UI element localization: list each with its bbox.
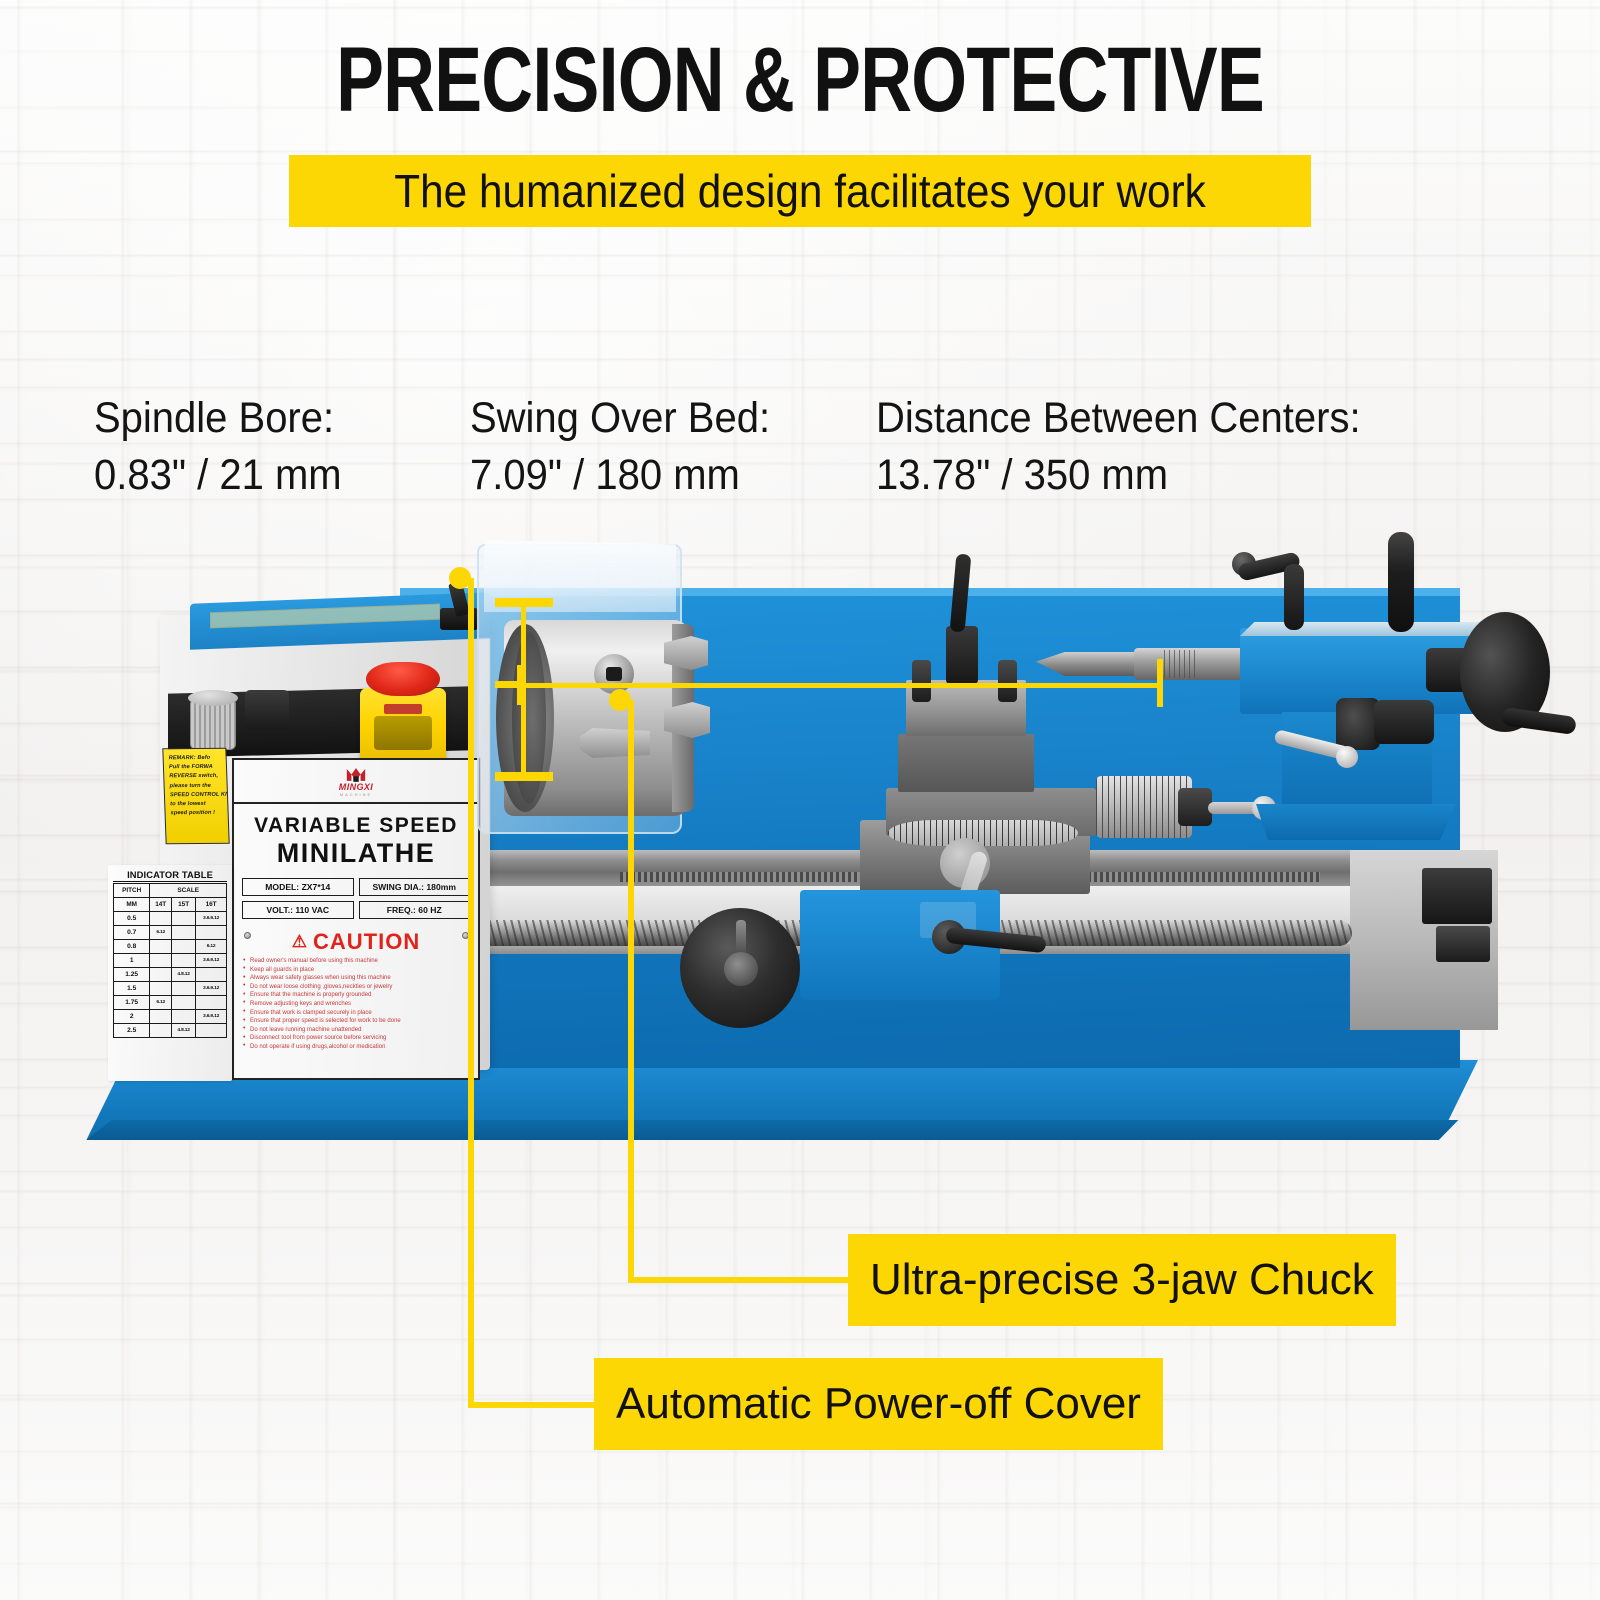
tailstock-clamp-block	[1374, 700, 1434, 744]
spec-item-swing-over-bed: Swing Over Bed: 7.09" / 180 mm	[470, 390, 793, 504]
table-header-row: PITCH SCALE	[114, 884, 227, 898]
field-key: SWING DIA.:	[372, 882, 424, 892]
tailstock-quill-scale	[1164, 650, 1198, 678]
field-value: 60 HZ	[418, 905, 441, 915]
nameplate-title-line2: MINILATHE	[234, 838, 478, 868]
field-value: ZX7*14	[302, 882, 331, 892]
table-row: 0.7 6.12	[114, 926, 227, 940]
caution-item: Always wear safety glasses when using th…	[243, 974, 471, 983]
lathe-base-tray-lip	[78, 1120, 1478, 1140]
field-value: 110 VAC	[295, 905, 329, 915]
emergency-stop-guard-slot	[374, 716, 432, 750]
table-row: 1.5 3.6.9.12	[114, 982, 227, 996]
cell-16t: 3.6.9.12	[196, 1010, 227, 1024]
subtitle-text: The humanized design facilitates your wo…	[394, 164, 1206, 218]
indicator-table: PITCH SCALE MM 14T 15T 16T 0.5 3.6.9.12	[113, 883, 227, 1038]
cell-15t: 4.8.12	[172, 1024, 196, 1038]
cell-16t	[196, 968, 227, 982]
cell-16t: 3.6.9.12	[196, 982, 227, 996]
cell-16t	[196, 1024, 227, 1038]
nameplate-logo-box: MINGXI MACHINE	[234, 760, 478, 804]
nameplate-field-swing-dia: SWING DIA.: 180mm	[359, 878, 471, 896]
cell-pitch: 0.8	[114, 940, 150, 954]
tool-post-base	[898, 734, 1034, 792]
indicator-table-plate: INDICATOR TABLE PITCH SCALE MM 14T 15T 1…	[108, 865, 232, 1081]
field-key: MODEL:	[265, 882, 299, 892]
nameplate-title-line1: VARIABLE SPEED	[234, 814, 478, 838]
spec-value: 13.78" / 350 mm	[876, 446, 1361, 504]
warning-triangle-icon: ⚠	[292, 932, 308, 952]
field-key: VOLT.:	[266, 905, 293, 915]
cell-15t	[172, 954, 196, 968]
cell-pitch: 1.75	[114, 996, 150, 1010]
cell-14t	[150, 968, 172, 982]
chuck-spindle-inner	[512, 632, 546, 804]
machine-nameplate: MINGXI MACHINE VARIABLE SPEED MINILATHE …	[232, 758, 480, 1080]
remark-line: Pull the FORWA	[169, 763, 222, 773]
nameplate-field-volt: VOLT.: 110 VAC	[242, 901, 354, 919]
caution-text: CAUTION	[313, 929, 420, 955]
spec-label: Spindle Bore:	[94, 390, 342, 446]
cell-14t	[150, 954, 172, 968]
cell-15t: 4.8.12	[172, 968, 196, 982]
tool-post-stem	[946, 626, 978, 684]
speed-control-knob-top[interactable]	[188, 690, 238, 706]
bed-right-block	[1422, 868, 1492, 924]
bed-right-block-lower	[1436, 926, 1490, 962]
cross-slide-dial-hub	[1178, 788, 1212, 826]
nameplate-field-model: MODEL: ZX7*14	[242, 878, 354, 896]
nameplate-spec-grid: MODEL: ZX7*14 SWING DIA.: 180mm VOLT.: 1…	[234, 868, 478, 923]
caution-item: Keep all guards in place	[243, 966, 471, 975]
table-row: 0.5 3.6.9.12	[114, 912, 227, 926]
cell-15t	[172, 1010, 196, 1024]
cell-pitch: 2.5	[114, 1024, 150, 1038]
chuck-key-socket-square	[606, 667, 622, 681]
table-row: 2.5 4.8.12	[114, 1024, 227, 1038]
tailstock-top-face	[1240, 622, 1480, 636]
col-scale-group: SCALE	[150, 884, 227, 898]
caution-bullet-list: Read owner's manual before using this ma…	[234, 955, 478, 1052]
col-14t: 14T	[150, 898, 172, 912]
remark-line: to the lowest	[170, 800, 223, 810]
forward-reverse-switch[interactable]	[245, 690, 289, 730]
infographic-stage: PRECISION & PROTECTIVE The humanized des…	[0, 0, 1600, 1600]
nameplate-brand: MINGXI	[339, 783, 373, 792]
cell-16t	[196, 926, 227, 940]
chuck-jaw	[580, 728, 650, 758]
cell-16t: 6.12	[196, 940, 227, 954]
remark-line: SPEED CONTROL KN	[170, 791, 223, 801]
cell-14t	[150, 912, 172, 926]
col-15t: 15T	[172, 898, 196, 912]
col-mm: MM	[114, 898, 150, 912]
table-subheader-row: MM 14T 15T 16T	[114, 898, 227, 912]
table-row: 1 3.6.9.12	[114, 954, 227, 968]
table-row: 0.8 6.12	[114, 940, 227, 954]
caution-heading: ⚠ CAUTION	[234, 929, 478, 955]
cell-14t	[150, 1024, 172, 1038]
emergency-stop-button[interactable]	[366, 662, 440, 696]
spec-value: 0.83" / 21 mm	[94, 446, 342, 504]
caution-item: Disconnect tool from power source before…	[243, 1034, 471, 1043]
tailstock-base-clamp	[1256, 804, 1456, 840]
field-value: 180mm	[426, 882, 456, 892]
cell-16t: 3.6.9.12	[196, 912, 227, 926]
remark-sticker: REMARK: Befo Pull the FORWA REVERSE swit…	[162, 748, 229, 845]
spec-row: Spindle Bore: 0.83" / 21 mm Swing Over B…	[0, 390, 1600, 500]
cell-16t	[196, 996, 227, 1010]
subtitle-banner: The humanized design facilitates your wo…	[289, 155, 1311, 227]
tailstock-quill-lock-lever[interactable]	[1388, 532, 1414, 632]
caution-item: Ensure that proper speed is selected for…	[243, 1017, 471, 1026]
cell-pitch: 1.25	[114, 968, 150, 982]
col-pitch: PITCH	[114, 884, 150, 898]
cell-pitch: 0.5	[114, 912, 150, 926]
table-row: 1.75 6.12	[114, 996, 227, 1010]
page-title: PRECISION & PROTECTIVE	[176, 34, 1424, 126]
cell-14t: 6.12	[150, 926, 172, 940]
cell-15t	[172, 912, 196, 926]
cell-15t	[172, 926, 196, 940]
remark-line: please turn the	[169, 781, 222, 791]
spec-value: 7.09" / 180 mm	[470, 446, 770, 504]
remark-line: REVERSE switch,	[169, 772, 222, 782]
indicator-table-title: INDICATOR TABLE	[113, 869, 227, 882]
callout-label-chuck: Ultra-precise 3-jaw Chuck	[848, 1234, 1396, 1326]
cell-16t: 3.6.9.12	[196, 954, 227, 968]
acrylic-chuck-guard-top	[484, 540, 676, 612]
callout-leader-chuck-horizontal	[628, 1277, 858, 1283]
emergency-stop-guard-bar	[384, 704, 422, 714]
cell-14t: 6.12	[150, 996, 172, 1010]
tool-post-bolt	[912, 660, 931, 702]
tailstock-lock-lever[interactable]	[1284, 564, 1304, 630]
callout-leader-cover-horizontal	[468, 1402, 604, 1408]
caution-item: Ensure that the machine is properly grou…	[243, 991, 471, 1000]
callout-label-cover: Automatic Power-off Cover	[594, 1358, 1163, 1450]
caution-item: Do not wear loose clothing ,gloves,neckt…	[243, 983, 471, 992]
spec-item-spindle-bore: Spindle Bore: 0.83" / 21 mm	[94, 390, 360, 504]
cell-15t	[172, 940, 196, 954]
caution-item: Remove adjusting keys and wrenches	[243, 1000, 471, 1009]
remark-line: speed position !	[170, 809, 223, 819]
tool-post-bolt	[998, 660, 1017, 702]
cell-15t	[172, 996, 196, 1010]
table-row: 2 3.6.9.12	[114, 1010, 227, 1024]
table-row: 1.25 4.8.12	[114, 968, 227, 982]
nameplate-brand-sub: MACHINE	[340, 792, 372, 798]
compound-angle-scale	[888, 820, 1078, 846]
apron-handwheel-hub	[724, 952, 758, 986]
field-key: FREQ.:	[387, 905, 416, 915]
cell-pitch: 1	[114, 954, 150, 968]
spec-label: Swing Over Bed:	[470, 390, 770, 446]
cell-pitch: 1.5	[114, 982, 150, 996]
nameplate-screw-right	[462, 932, 469, 939]
spec-item-distance-between-centers: Distance Between Centers: 13.78" / 350 m…	[876, 390, 1397, 504]
cell-14t	[150, 982, 172, 996]
cell-15t	[172, 982, 196, 996]
cell-pitch: 0.7	[114, 926, 150, 940]
caution-item: Do not leave running machine unattended	[243, 1026, 471, 1035]
cell-14t	[150, 1010, 172, 1024]
cell-14t	[150, 940, 172, 954]
caution-item: Do not operate if using drugs,alcohol or…	[243, 1043, 471, 1052]
caution-item: Ensure that work is clamped securely in …	[243, 1009, 471, 1018]
spec-label: Distance Between Centers:	[876, 390, 1361, 446]
cell-pitch: 2	[114, 1010, 150, 1024]
tailstock-adjust-ball	[1336, 746, 1358, 768]
remark-line: REMARK: Befo	[169, 754, 222, 764]
caution-item: Read owner's manual before using this ma…	[243, 957, 471, 966]
mingxi-logo-icon	[345, 766, 367, 783]
col-16t: 16T	[196, 898, 227, 912]
nameplate-field-freq: FREQ.: 60 HZ	[359, 901, 471, 919]
product-photo-minilathe: REMARK: Befo Pull the FORWA REVERSE swit…	[60, 520, 1530, 1160]
nameplate-screw-left	[244, 932, 251, 939]
